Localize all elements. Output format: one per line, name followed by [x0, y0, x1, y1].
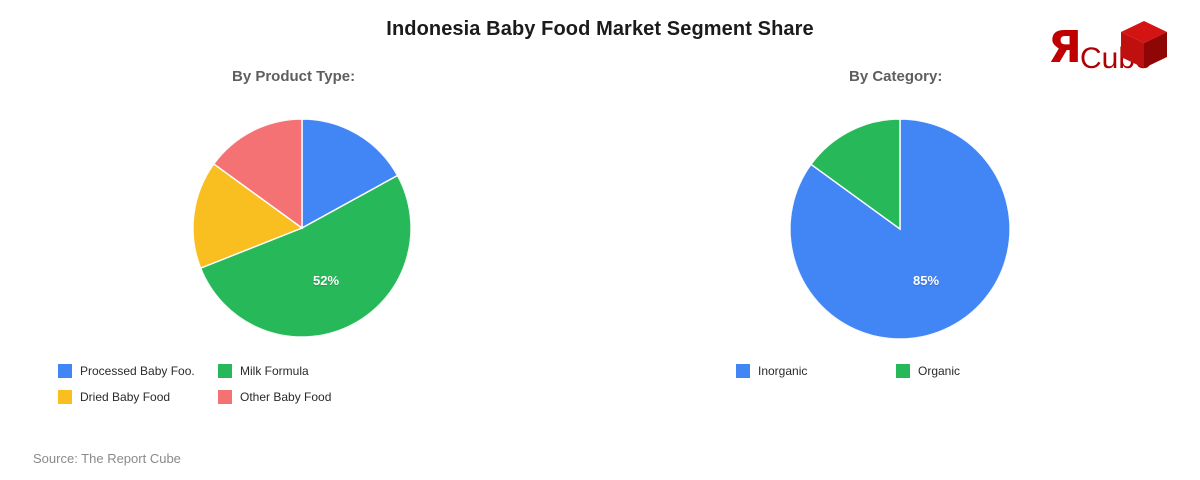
panel-subtitle-category: By Category:: [849, 68, 942, 85]
panel-subtitle-product-type: By Product Type:: [232, 68, 355, 85]
pie-slice-label-inorganic: 85%: [913, 273, 939, 288]
legend-item[interactable]: Inorganic: [736, 358, 896, 384]
red-cube-icon: [1118, 19, 1170, 71]
legend-item[interactable]: Milk Formula: [218, 358, 378, 384]
legend-label: Other Baby Food: [240, 390, 331, 404]
legend-label: Milk Formula: [240, 364, 309, 378]
legend-swatch-product-3: [218, 390, 232, 404]
legend-swatch-category-1: [896, 364, 910, 378]
legend-label: Dried Baby Food: [80, 390, 170, 404]
pie-chart-product-type[interactable]: [193, 119, 411, 337]
legend-swatch-product-0: [58, 364, 72, 378]
legend-label: Organic: [918, 364, 960, 378]
legend-swatch-category-0: [736, 364, 750, 378]
brand-logo: Я Cube: [1032, 14, 1182, 80]
legend-label: Processed Baby Foo.: [80, 364, 195, 378]
legend-product-type: Processed Baby Foo.Milk FormulaDried Bab…: [58, 358, 528, 410]
legend-category: InorganicOrganic: [736, 358, 1066, 384]
legend-swatch-product-1: [218, 364, 232, 378]
pie-chart-category[interactable]: [790, 119, 1010, 339]
legend-label: Inorganic: [758, 364, 807, 378]
legend-item[interactable]: Organic: [896, 358, 1056, 384]
page-title: Indonesia Baby Food Market Segment Share: [0, 18, 1200, 41]
legend-item[interactable]: Processed Baby Foo.: [58, 358, 218, 384]
source-note: Source: The Report Cube: [33, 451, 181, 466]
pie-slice-label-milk-formula: 52%: [313, 273, 339, 288]
logo-mark-r: Я: [1048, 26, 1082, 70]
legend-swatch-product-2: [58, 390, 72, 404]
legend-item[interactable]: Other Baby Food: [218, 384, 378, 410]
legend-item[interactable]: Dried Baby Food: [58, 384, 218, 410]
